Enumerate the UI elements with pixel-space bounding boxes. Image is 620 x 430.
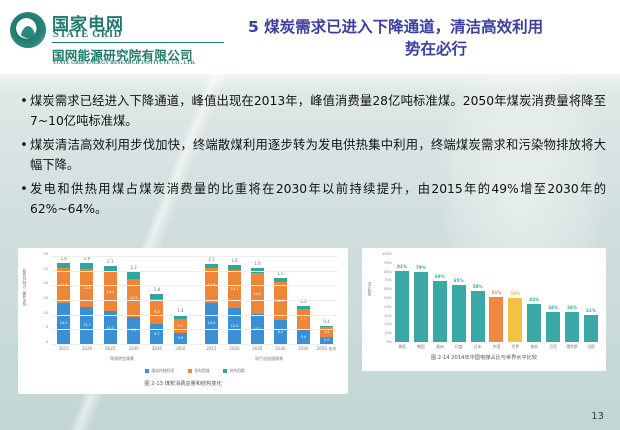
right-chart-xlabel: 日本 (471, 344, 485, 350)
right-chart-xlabel: 美国 (395, 344, 409, 350)
bar-segment-value: 14.2 (251, 292, 264, 296)
bar: 43% (527, 304, 541, 342)
legend-label: 煤炭终端利用 (151, 368, 174, 374)
legend-label: 发电用煤 (194, 368, 209, 374)
gridline (52, 271, 338, 272)
legend-item: 供热用煤 (223, 368, 244, 374)
bar-segment-value: 8.6 (150, 310, 163, 314)
bar: 81% (395, 271, 409, 342)
bar-segment-value: 4.7 (174, 324, 187, 328)
list-item: • 煤炭需求已经进入下降通道，峰值出现在2013年，峰值消费量28亿吨标准煤。2… (18, 92, 606, 131)
left-chart-xlabel: 2030 (124, 346, 144, 351)
bar-segment: 2.5 (320, 337, 333, 344)
bar: 11.914.01.8 (57, 263, 70, 344)
left-chart-xlabel: 2020 (77, 346, 97, 351)
left-chart-xlabel: 2030 (271, 346, 291, 352)
left-chart-plot: 11.914.01.813.012.71.913.311.12.112.99.3… (52, 256, 338, 344)
bar: 14.210.11.6 (251, 268, 264, 344)
header-fade (0, 74, 620, 92)
right-chart-xlabels: 美国韩国澳洲印度日本中国世界南非巴西俄罗斯法国 (395, 344, 598, 350)
left-chart-ytick: 20 (43, 281, 48, 285)
bar-segment: 8.2 (274, 320, 287, 344)
left-chart-ytick: 25 (43, 267, 48, 271)
right-chart-xlabel: 韩国 (414, 344, 428, 350)
right-chart-xlabel: 印度 (452, 344, 466, 350)
bar-segment: 14.2 (251, 273, 264, 315)
left-chart-xlabel: 2020 (225, 346, 245, 352)
bar: 34% (546, 312, 560, 342)
bar-segment-value: 13.1 (228, 287, 241, 291)
bar-segment-value: 14.0 (57, 321, 70, 325)
legend-item: 煤炭终端利用 (145, 368, 174, 374)
bar: 34% (565, 312, 579, 342)
left-chart-xlabel: 2015 (202, 346, 222, 352)
left-chart-ytick: 5 (46, 325, 48, 329)
bar-segment-value: 5.0 (297, 335, 310, 339)
gridline (52, 315, 338, 316)
left-chart-xlabel: 2040 (147, 346, 167, 351)
logo: 国家电网 STATE GRID 国网能源研究院有限公司 STATE GRID E… (10, 8, 225, 66)
page-number: 13 (591, 411, 604, 422)
bar-segment: 6.7 (150, 324, 163, 344)
page-title: 5 煤炭需求已进入下降通道，清洁高效利用 势在必行 (248, 16, 608, 60)
bar: 13.311.12.1 (104, 266, 117, 344)
left-chart-xlabel: 2050 (170, 346, 190, 351)
left-chart-legend: 煤炭终端利用发电用煤供热用煤 (52, 368, 338, 374)
bar-value-label: 58% (465, 284, 491, 289)
left-chart-xlabel: 2050 年份 (317, 346, 337, 352)
bar: 50% (508, 298, 522, 342)
right-chart-xlabel: 澳洲 (433, 344, 447, 350)
left-chart-xlabel: 2015 (54, 346, 74, 351)
bar-segment-value: 12.7 (80, 323, 93, 327)
slide: 国家电网 STATE GRID 国网能源研究院有限公司 STATE GRID E… (0, 0, 620, 430)
bar: 69% (433, 281, 447, 342)
left-chart-xlabels-g1: 201520202025203020402050 (52, 346, 192, 351)
left-chart-ytick: 0 (46, 340, 48, 344)
bar: 11.914.01.5 (205, 264, 218, 344)
bar: 79% (414, 272, 428, 342)
right-chart-plot: 81%79%69%65%58%51%50%43%34%34%31% (395, 254, 598, 342)
right-chart-xlabel: 巴西 (546, 344, 560, 350)
bar-segment: 13.1 (228, 270, 241, 308)
legend-swatch-icon (145, 369, 149, 373)
bar-segment-value: 6.7 (150, 332, 163, 336)
right-chart-xlabel: 南非 (527, 344, 541, 350)
bar-value-label: 79% (408, 265, 434, 270)
bar-segment: 4.7 (174, 319, 187, 333)
legend-item: 发电用煤 (188, 368, 209, 374)
left-chart-ytick: 15 (43, 296, 48, 300)
bar-segment: 3.9 (174, 333, 187, 344)
gridline (52, 256, 338, 257)
chart-power-coal-share: 电煤占比 100%90%80%70%60%50%40%30%20%10%0% 8… (362, 248, 606, 371)
bar-total-label: 1.6 (245, 261, 270, 266)
bar-total-label: 2.1 (98, 259, 123, 264)
bar-value-label: 31% (578, 308, 604, 313)
left-chart-xlabel: 2040 (294, 346, 314, 352)
bar: 13.112.31.6 (228, 265, 241, 344)
bar-value-label: 43% (521, 297, 547, 302)
bar-segment: 12.3 (228, 308, 241, 344)
bar-total-label: 1.4 (168, 308, 193, 313)
right-chart-xlabel: 中国 (489, 344, 503, 350)
bar-segment: 13.0 (80, 269, 93, 307)
bar-segment: 11.1 (104, 311, 117, 344)
bar-value-label: 65% (446, 278, 472, 283)
legend-swatch-icon (188, 369, 192, 373)
bullet-list: • 煤炭需求已经进入下降通道，峰值出现在2013年，峰值消费量28亿吨标准煤。2… (18, 92, 606, 224)
left-chart-yaxis: 051015202530 (30, 254, 50, 346)
list-item: • 煤炭清洁高效利用步伐加快，终端散煤利用逐步转为发电供热集中利用，终端煤炭需求… (18, 136, 606, 175)
bar-segment-value: 7.1 (297, 317, 310, 321)
bar-segment: 5.0 (297, 329, 310, 344)
bullet-text: 发电和供热用煤占煤炭消费量的比重将在2030年以前持续提升，由2015年的49%… (30, 180, 606, 219)
bar-total-label: 1.5 (199, 257, 224, 262)
left-chart-group2-title: 电气化加速情景 (200, 356, 338, 362)
bar-total-label: 1.6 (222, 258, 247, 263)
gridline (52, 329, 338, 330)
bullet-marker-icon: • (18, 92, 30, 111)
list-item: • 发电和供热用煤占煤炭消费量的比重将在2030年以前持续提升，由2015年的4… (18, 180, 606, 219)
bar-segment-value: 3.9 (174, 336, 187, 340)
bar: 12.98.21.5 (274, 278, 287, 344)
bar-segment: 3.4 (320, 327, 333, 337)
bar: 8.66.71.8 (150, 294, 163, 344)
right-chart-ytick: 50% (384, 296, 392, 300)
right-chart-ytick: 100% (382, 252, 392, 256)
bar: 7.15.00.9 (297, 306, 310, 344)
bullet-marker-icon: • (18, 136, 30, 155)
logo-divider (52, 42, 224, 43)
bar: 58% (471, 291, 485, 342)
right-chart-ytick: 80% (384, 270, 392, 274)
left-chart-xlabel: 2025 (100, 346, 120, 351)
bar-segment-value: 2.5 (320, 338, 333, 342)
bar: 3.42.50.4 (320, 326, 333, 344)
right-chart-caption: 图 2-14 2014年中国电煤占比与世界水平比较 (362, 354, 606, 361)
page-title-line1: 5 煤炭需求已进入下降通道，清洁高效利用 (248, 16, 608, 38)
bar-segment: 14.0 (57, 303, 70, 344)
legend-label: 供热用煤 (229, 368, 244, 374)
bar-segment: 9.3 (127, 317, 140, 344)
right-chart-bars: 81%79%69%65%58%51%50%43%34%34%31% (395, 254, 598, 342)
bar: 13.012.71.9 (80, 263, 93, 344)
bar-total-label: 1.8 (144, 287, 169, 292)
left-chart-xlabels: 201520202025203020402050 201520202025203… (52, 346, 338, 356)
bar-segment: 8.6 (150, 299, 163, 324)
bar-segment-value: 13.3 (104, 290, 117, 294)
gridline (52, 285, 338, 286)
right-chart-xlabel: 法国 (584, 344, 598, 350)
bar: 12.99.32.2 (127, 272, 140, 344)
right-chart-xlabel: 世界 (508, 344, 522, 350)
left-chart-xlabels-g2: 201520202025203020402050 年份 (200, 346, 338, 352)
bar: 31% (584, 315, 598, 342)
right-chart-ytick: 30% (384, 314, 392, 318)
chart-coal-consumption: 煤炭消费（亿吨标准煤） 051015202530 11.914.01.813.0… (18, 248, 348, 394)
left-chart-ytick: 30 (43, 252, 48, 256)
bar-segment: 13.3 (104, 272, 117, 311)
logo-company-en: STATE GRID (53, 29, 122, 40)
bar-segment-value: 14.0 (205, 321, 218, 325)
bar-segment-value: 12.3 (228, 324, 241, 328)
left-chart-group1-title: 常规转型情景 (52, 356, 192, 362)
bullet-text: 煤炭清洁高效利用步伐加快，终端散煤利用逐步转为发电供热集中利用，终端煤炭需求和污… (30, 136, 606, 175)
right-chart-ytick: 20% (384, 322, 392, 326)
logo-institute-en: STATE GRID ENERGY RESEARCH INSTITUTE CO.… (53, 61, 196, 66)
bar-segment-value: 8.2 (274, 330, 287, 334)
left-chart-caption: 图 2-13 煤炭消费总量和结构变化 (18, 380, 348, 387)
bar: 65% (452, 285, 466, 342)
legend-swatch-icon (223, 369, 227, 373)
charts-row: 煤炭消费（亿吨标准煤） 051015202530 11.914.01.813.0… (18, 248, 606, 400)
right-chart-ytick: 40% (384, 305, 392, 309)
bar-segment: 14.0 (205, 303, 218, 344)
right-chart-ytick: 0% (386, 340, 392, 344)
left-chart-ytick: 10 (43, 311, 48, 315)
bar-segment: 7.1 (297, 309, 310, 330)
right-chart-ytick: 10% (384, 331, 392, 335)
bar-value-label: 50% (502, 291, 528, 296)
bullet-marker-icon: • (18, 180, 30, 199)
gridline (52, 300, 338, 301)
left-chart-xlabel: 2025 (248, 346, 268, 352)
page-title-line2: 势在必行 (248, 38, 608, 60)
bar: 51% (489, 297, 503, 342)
bar-segment: 12.7 (80, 307, 93, 344)
state-grid-emblem-icon (10, 12, 46, 48)
right-chart-xlabel: 俄罗斯 (565, 344, 579, 350)
right-chart-ytick: 60% (384, 287, 392, 291)
gridline (52, 344, 338, 345)
bullet-text: 煤炭需求已经进入下降通道，峰值出现在2013年，峰值消费量28亿吨标准煤。205… (30, 92, 606, 131)
left-chart-ylabel: 煤炭消费（亿吨标准煤） (20, 266, 29, 306)
right-chart-ytick: 70% (384, 278, 392, 282)
bar-total-label: 0.4 (314, 319, 339, 324)
